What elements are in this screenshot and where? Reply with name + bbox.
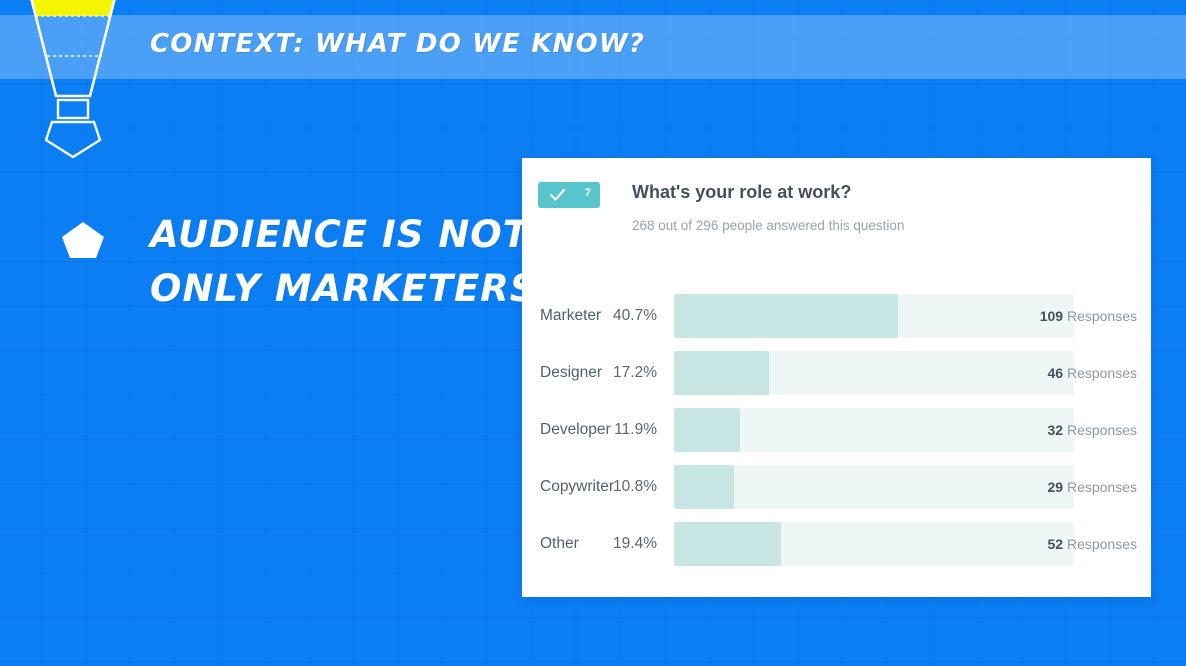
bar-track — [674, 522, 1074, 566]
headline: Audience is not only marketers — [150, 208, 570, 316]
question-title: What's your role at work? — [632, 182, 851, 203]
headline-line-2: only marketers — [150, 262, 570, 316]
row-count-unit: Responses — [1063, 422, 1137, 438]
bar-fill — [674, 465, 734, 509]
funnel-graphic — [18, 0, 148, 164]
bar-fill — [674, 522, 781, 566]
bar-fill — [674, 408, 740, 452]
row-count-value: 29 — [1047, 479, 1063, 495]
question-number: 7 — [585, 187, 591, 199]
row-count-unit: Responses — [1063, 308, 1137, 324]
bar-track — [674, 294, 1074, 338]
slide-canvas: Context: What do we know? Audience is no… — [0, 0, 1186, 666]
row-count-unit: Responses — [1063, 365, 1137, 381]
row-count-unit: Responses — [1063, 479, 1137, 495]
row-response-count: 109 Responses — [1040, 294, 1137, 338]
bar-track — [674, 408, 1074, 452]
row-count-value: 46 — [1047, 365, 1063, 381]
row-count-value: 32 — [1047, 422, 1063, 438]
bar-fill — [674, 294, 898, 338]
bar-track — [674, 465, 1074, 509]
check-icon — [549, 187, 566, 203]
question-subtitle: 268 out of 296 people answered this ques… — [632, 218, 904, 233]
row-count-unit: Responses — [1063, 536, 1137, 552]
pentagon-bullet-icon — [60, 220, 106, 260]
row-percentage: 19.4% — [582, 522, 657, 566]
table-row: 19.4%Other52 Responses — [522, 522, 1151, 566]
survey-result-card: 7 What's your role at work? 268 out of 2… — [522, 158, 1151, 597]
row-label: Other — [540, 522, 579, 566]
table-row: 17.2%Designer46 Responses — [522, 351, 1151, 395]
row-response-count: 52 Responses — [1047, 522, 1137, 566]
table-row: 11.9%Developer32 Responses — [522, 408, 1151, 452]
row-count-value: 52 — [1047, 536, 1063, 552]
page-title: Context: What do we know? — [150, 29, 645, 59]
row-response-count: 32 Responses — [1047, 408, 1137, 452]
row-response-count: 29 Responses — [1047, 465, 1137, 509]
row-label: Marketer — [540, 294, 601, 338]
headline-line-1: Audience is not — [150, 208, 570, 262]
bar-fill — [674, 351, 769, 395]
question-header: 7 What's your role at work? 268 out of 2… — [538, 182, 1138, 242]
row-count-value: 109 — [1040, 308, 1063, 324]
row-label: Copywriter — [540, 465, 614, 509]
row-response-count: 46 Responses — [1047, 351, 1137, 395]
table-row: 10.8%Copywriter29 Responses — [522, 465, 1151, 509]
table-row: 40.7%Marketer109 Responses — [522, 294, 1151, 338]
row-label: Developer — [540, 408, 611, 452]
question-number-badge: 7 — [538, 182, 600, 208]
response-rows: 40.7%Marketer109 Responses17.2%Designer4… — [522, 294, 1151, 579]
row-label: Designer — [540, 351, 602, 395]
bar-track — [674, 351, 1074, 395]
